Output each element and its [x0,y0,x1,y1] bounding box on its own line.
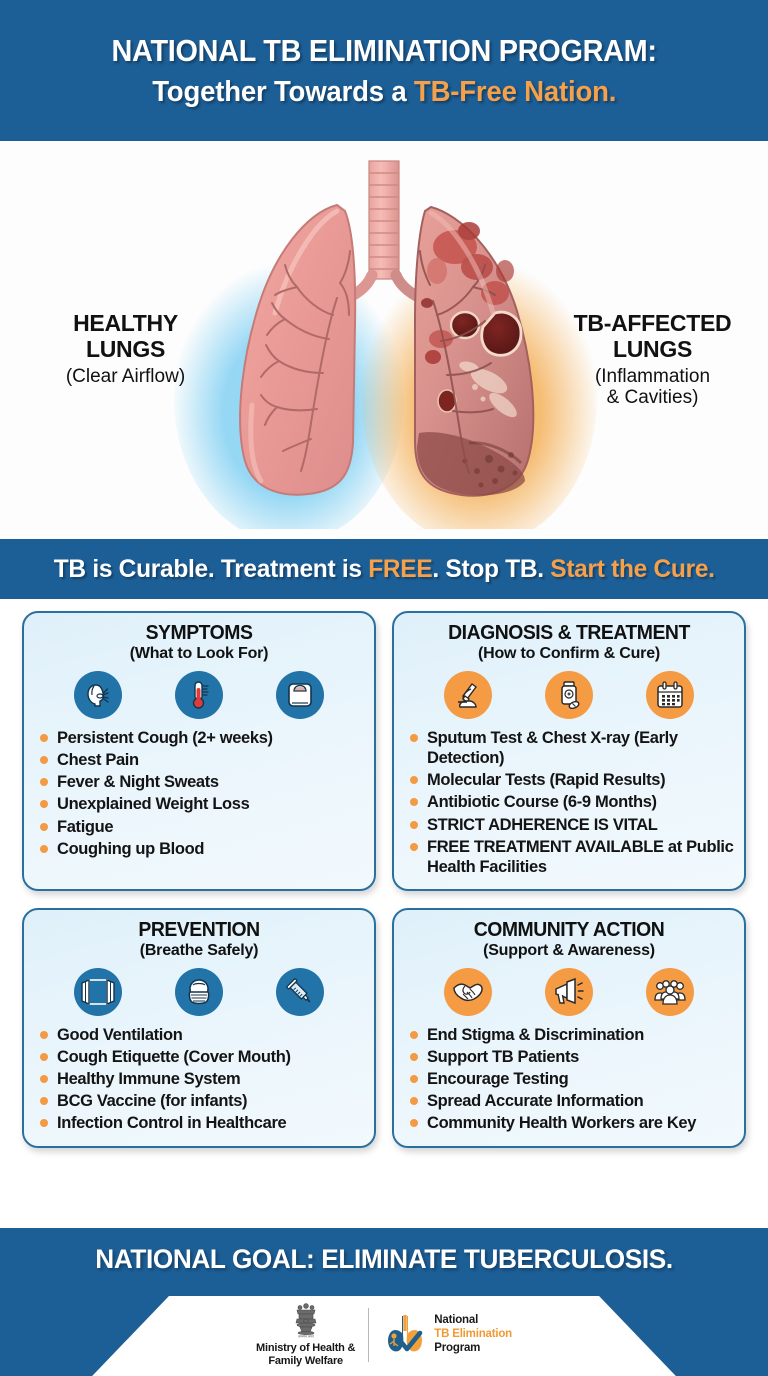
pill-bottle-icon [545,671,593,719]
list-item: End Stigma & Discrimination [408,1025,734,1045]
ntep-line1: National [434,1314,512,1328]
weighing-scale-icon [276,671,324,719]
tb-lungs-title-line2: LUNGS [545,337,760,363]
banner-accent-free: FREE [368,555,432,583]
list-item: Sputum Test & Chest X-ray (Early Detecti… [408,728,734,768]
list-item: Good Ventilation [38,1025,364,1045]
handshake-icon [444,968,492,1016]
list-item: Encourage Testing [408,1069,734,1089]
microscope-icon [444,671,492,719]
calendar-icon [646,671,694,719]
list-item: Cough Etiquette (Cover Mouth) [38,1047,364,1067]
banner-part1: TB is Curable. Treatment is [54,555,368,583]
people-group-icon [646,968,694,1016]
ntep-line3: Program [434,1342,512,1356]
india-national-emblem-icon: सत्यमेव जयते [289,1302,323,1340]
healthy-lungs-label: HEALTHY LUNGS (Clear Airflow) [18,311,233,387]
healthy-lungs-subtitle: (Clear Airflow) [18,366,233,387]
list-item: Community Health Workers are Key [408,1113,734,1133]
list-item: Infection Control in Healthcare [38,1113,364,1133]
megaphone-icon [545,968,593,1016]
svg-text:सत्यमेव जयते: सत्यमेव जयते [298,1334,314,1338]
card-diagnosis-title: DIAGNOSIS & TREATMENT [409,623,729,644]
curable-banner-text: TB is Curable. Treatment is FREE. Stop T… [54,555,715,584]
footer-logo-row: सत्यमेव जयते Ministry of Health & Family… [0,1298,768,1372]
tb-lungs-title-line1: TB-AFFECTED [545,311,760,337]
list-item: Coughing up Blood [38,839,364,859]
card-symptoms[interactable]: SYMPTOMS (What to Look For) [22,611,376,891]
card-community-subtitle: (Support & Awareness) [404,942,734,960]
card-prevention-icon-row [48,968,350,1016]
ministry-name: Ministry of Health & Family Welfare [256,1342,355,1369]
card-diagnosis-bullets: Sputum Test & Chest X-ray (Early Detecti… [408,728,734,877]
card-prevention[interactable]: PREVENTION (Breathe Safely) [22,908,376,1148]
list-item: Fatigue [38,817,364,837]
curable-banner: TB is Curable. Treatment is FREE. Stop T… [0,539,768,599]
header-subtitle-accent: TB-Free Nation. [414,76,616,108]
face-mask-icon [175,968,223,1016]
open-window-icon [74,968,122,1016]
ntep-lungs-check-icon [382,1313,428,1357]
national-goal-text: NATIONAL GOAL: ELIMINATE TUBERCULOSIS. [12,1228,757,1275]
info-card-grid: SYMPTOMS (What to Look For) [0,599,768,1148]
ntep-line2: TB Elimination [434,1328,512,1342]
healthy-lungs-title-line1: HEALTHY [18,311,233,337]
card-symptoms-title: SYMPTOMS [39,623,359,644]
card-symptoms-bullets: Persistent Cough (2+ weeks) Chest Pain F… [38,728,364,859]
header-title-line2: Together Towards a TB-Free Nation. [152,76,616,109]
list-item: Fever & Night Sweats [38,772,364,792]
card-prevention-title: PREVENTION [39,920,359,941]
ministry-name-line1: Ministry of Health & [256,1342,355,1355]
list-item: Antibiotic Course (6-9 Months) [408,792,734,812]
list-item: Molecular Tests (Rapid Results) [408,770,734,790]
thermometer-icon [175,671,223,719]
tb-lungs-subtitle-line2: & Cavities) [545,387,760,408]
header-title-line1: NATIONAL TB ELIMINATION PROGRAM: [111,33,656,69]
ntep-logo-block: National TB Elimination Program [382,1313,512,1357]
card-community-title: COMMUNITY ACTION [409,920,729,941]
tb-lungs-label: TB-AFFECTED LUNGS (Inflammation & Caviti… [545,311,760,408]
list-item: FREE TREATMENT AVAILABLE at Public Healt… [408,837,734,877]
list-item: Spread Accurate Information [408,1091,734,1111]
card-prevention-bullets: Good Ventilation Cough Etiquette (Cover … [38,1025,364,1134]
page-header: NATIONAL TB ELIMINATION PROGRAM: Togethe… [0,0,768,141]
page-footer: NATIONAL GOAL: ELIMINATE TUBERCULOSIS. स… [0,1228,768,1376]
healthy-lungs-title-line2: LUNGS [18,337,233,363]
tb-lungs-subtitle-line1: (Inflammation [545,366,760,387]
lungs-hero-section: HEALTHY LUNGS (Clear Airflow) TB-AFFECTE… [0,141,768,531]
list-item: Chest Pain [38,750,364,770]
list-item: Healthy Immune System [38,1069,364,1089]
card-diagnosis-icon-row [418,671,720,719]
list-item: BCG Vaccine (for infants) [38,1091,364,1111]
card-community-icon-row [418,968,720,1016]
ntep-name: National TB Elimination Program [434,1314,512,1355]
card-community-bullets: End Stigma & Discrimination Support TB P… [408,1025,734,1134]
card-symptoms-subtitle: (What to Look For) [34,645,364,663]
card-diagnosis-subtitle: (How to Confirm & Cure) [404,645,734,663]
coughing-person-icon [74,671,122,719]
list-item: Persistent Cough (2+ weeks) [38,728,364,748]
banner-part2: . Stop TB. [432,555,550,583]
list-item: STRICT ADHERENCE IS VITAL [408,815,734,835]
card-symptoms-icon-row [48,671,350,719]
card-community-action[interactable]: COMMUNITY ACTION (Support & Awareness) [392,908,746,1148]
logo-divider [368,1308,369,1362]
banner-accent-start-cure: Start the Cure. [550,555,714,583]
ministry-name-line2: Family Welfare [256,1355,355,1368]
card-diagnosis-treatment[interactable]: DIAGNOSIS & TREATMENT (How to Confirm & … [392,611,746,891]
card-prevention-subtitle: (Breathe Safely) [34,942,364,960]
syringe-icon [276,968,324,1016]
lungs-comparison-illustration [169,143,599,531]
list-item: Support TB Patients [408,1047,734,1067]
ministry-logo-block: सत्यमेव जयते Ministry of Health & Family… [256,1302,355,1369]
list-item: Unexplained Weight Loss [38,794,364,814]
header-subtitle-plain: Together Towards a [152,76,414,108]
